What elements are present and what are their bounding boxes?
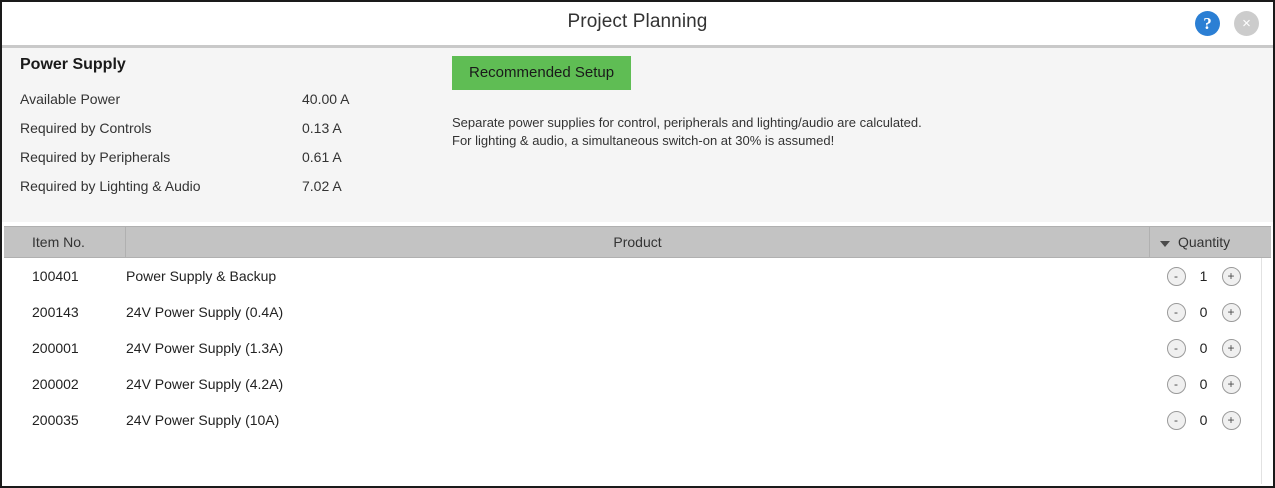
table-row[interactable]: 200143 24V Power Supply (0.4A) - 0 + bbox=[4, 294, 1271, 330]
power-stats: Power Supply Available Power 40.00 A Req… bbox=[20, 56, 420, 200]
increment-button[interactable]: + bbox=[1222, 303, 1241, 322]
stat-label: Required by Controls bbox=[20, 120, 302, 136]
increment-button[interactable]: + bbox=[1222, 411, 1241, 430]
quantity-value: 0 bbox=[1199, 412, 1209, 428]
quantity-stepper: - 0 + bbox=[1150, 339, 1271, 358]
column-header-label: Quantity bbox=[1178, 234, 1230, 250]
vertical-scrollbar[interactable] bbox=[1261, 258, 1262, 484]
table-row[interactable]: 200035 24V Power Supply (10A) - 0 + bbox=[4, 402, 1271, 438]
power-supply-heading: Power Supply bbox=[20, 56, 420, 74]
quantity-value: 0 bbox=[1199, 304, 1209, 320]
table-header-row: Item No. Product Quantity bbox=[4, 226, 1271, 258]
cell-item-no: 100401 bbox=[4, 268, 126, 284]
quantity-stepper: - 0 + bbox=[1150, 411, 1271, 430]
close-icon[interactable]: × bbox=[1234, 11, 1259, 36]
stat-row-required-lighting-audio: Required by Lighting & Audio 7.02 A bbox=[20, 171, 420, 200]
cell-item-no: 200001 bbox=[4, 340, 126, 356]
column-header-product[interactable]: Product bbox=[126, 227, 1150, 257]
stat-value: 0.13 A bbox=[302, 120, 342, 136]
quantity-value: 1 bbox=[1199, 268, 1209, 284]
cell-product: 24V Power Supply (4.2A) bbox=[126, 376, 1150, 392]
calculation-note-line-2: For lighting & audio, a simultaneous swi… bbox=[452, 132, 1253, 150]
power-supply-summary-panel: Power Supply Available Power 40.00 A Req… bbox=[2, 48, 1273, 222]
table-row[interactable]: 200002 24V Power Supply (4.2A) - 0 + bbox=[4, 366, 1271, 402]
column-header-label: Item No. bbox=[32, 234, 85, 250]
increment-button[interactable]: + bbox=[1222, 339, 1241, 358]
stat-value: 40.00 A bbox=[302, 91, 350, 107]
table-row[interactable]: 100401 Power Supply & Backup - 1 + bbox=[4, 258, 1271, 294]
cell-product: 24V Power Supply (10A) bbox=[126, 412, 1150, 428]
decrement-button[interactable]: - bbox=[1167, 411, 1186, 430]
products-table: Item No. Product Quantity 100401 Power S… bbox=[4, 226, 1271, 484]
table-body: 100401 Power Supply & Backup - 1 + 20014… bbox=[4, 258, 1271, 438]
decrement-button[interactable]: - bbox=[1167, 339, 1186, 358]
stat-label: Required by Lighting & Audio bbox=[20, 178, 302, 194]
column-header-label: Product bbox=[613, 234, 661, 250]
quantity-stepper: - 0 + bbox=[1150, 303, 1271, 322]
table-row[interactable]: 200001 24V Power Supply (1.3A) - 0 + bbox=[4, 330, 1271, 366]
titlebar: Project Planning ? × bbox=[2, 2, 1273, 48]
column-header-quantity[interactable]: Quantity bbox=[1150, 227, 1271, 257]
cell-product: 24V Power Supply (0.4A) bbox=[126, 304, 1150, 320]
stat-value: 0.61 A bbox=[302, 149, 342, 165]
cell-item-no: 200143 bbox=[4, 304, 126, 320]
titlebar-actions: ? × bbox=[1195, 11, 1259, 36]
stat-row-available-power: Available Power 40.00 A bbox=[20, 84, 420, 113]
cell-product: Power Supply & Backup bbox=[126, 268, 1150, 284]
recommended-setup-block: Recommended Setup Separate power supplie… bbox=[452, 56, 1253, 150]
stat-row-required-controls: Required by Controls 0.13 A bbox=[20, 113, 420, 142]
stat-label: Available Power bbox=[20, 91, 302, 107]
cell-product: 24V Power Supply (1.3A) bbox=[126, 340, 1150, 356]
cell-item-no: 200002 bbox=[4, 376, 126, 392]
decrement-button[interactable]: - bbox=[1167, 303, 1186, 322]
cell-item-no: 200035 bbox=[4, 412, 126, 428]
increment-button[interactable]: + bbox=[1222, 267, 1241, 286]
quantity-stepper: - 1 + bbox=[1150, 267, 1271, 286]
decrement-button[interactable]: - bbox=[1167, 375, 1186, 394]
increment-button[interactable]: + bbox=[1222, 375, 1241, 394]
calculation-note-line-1: Separate power supplies for control, per… bbox=[452, 114, 1253, 132]
stat-row-required-peripherals: Required by Peripherals 0.61 A bbox=[20, 142, 420, 171]
decrement-button[interactable]: - bbox=[1167, 267, 1186, 286]
stat-value: 7.02 A bbox=[302, 178, 342, 194]
page-title: Project Planning bbox=[2, 11, 1273, 33]
recommended-setup-button[interactable]: Recommended Setup bbox=[452, 56, 631, 90]
calculation-note: Separate power supplies for control, per… bbox=[452, 114, 1253, 150]
quantity-value: 0 bbox=[1199, 340, 1209, 356]
project-planning-window: Project Planning ? × Power Supply Availa… bbox=[0, 0, 1275, 488]
stat-label: Required by Peripherals bbox=[20, 149, 302, 165]
quantity-value: 0 bbox=[1199, 376, 1209, 392]
column-header-item-no[interactable]: Item No. bbox=[4, 227, 126, 257]
quantity-stepper: - 0 + bbox=[1150, 375, 1271, 394]
help-icon[interactable]: ? bbox=[1195, 11, 1220, 36]
chevron-down-icon bbox=[1160, 241, 1170, 247]
